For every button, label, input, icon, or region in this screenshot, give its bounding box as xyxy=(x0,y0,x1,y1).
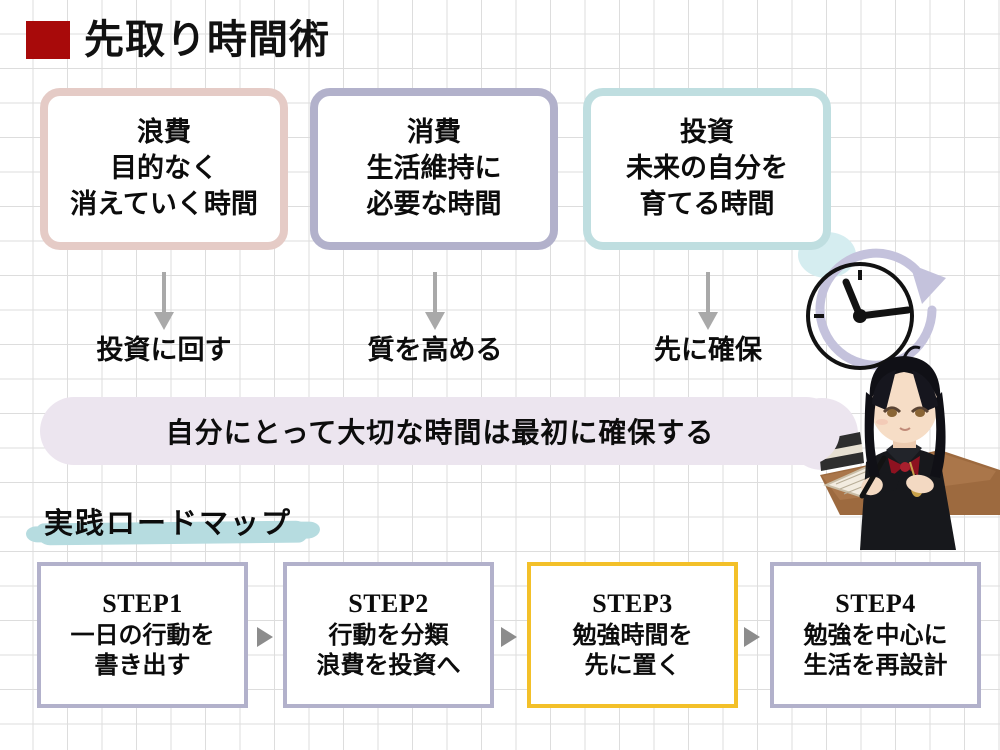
step-line-2: 一日の行動を xyxy=(71,621,215,652)
step-line-3: 書き出す xyxy=(95,651,191,682)
category-line-3: 必要な時間 xyxy=(367,187,502,223)
category-card-waste: 浪費 目的なく 消えていく時間 xyxy=(40,88,288,250)
step-line-2: 勉強を中心に xyxy=(804,621,948,652)
category-caption-investment: 先に確保 xyxy=(583,328,833,367)
page-title-row: 先取り時間術 xyxy=(26,20,330,60)
arrow-down-icon xyxy=(417,272,453,332)
roadmap-step-4: STEP4 勉強を中心に 生活を再設計 xyxy=(770,562,981,708)
category-line-3: 消えていく時間 xyxy=(70,187,258,223)
roadmap-step-1: STEP1 一日の行動を 書き出す xyxy=(37,562,248,708)
step-title: STEP4 xyxy=(835,588,916,621)
arrow-down-icon xyxy=(690,272,726,332)
roadmap-step-2: STEP2 行動を分類 浪費を投資へ xyxy=(283,562,494,708)
roadmap-heading-text: 実践ロードマップ xyxy=(44,500,292,542)
category-heading: 浪費 xyxy=(137,115,191,151)
category-line-3: 育てる時間 xyxy=(640,187,775,223)
category-line-2: 生活維持に xyxy=(367,151,502,187)
triangle-right-icon xyxy=(499,625,519,649)
category-card-consumption: 消費 生活維持に 必要な時間 xyxy=(310,88,558,250)
category-heading: 投資 xyxy=(680,115,734,151)
step-title: STEP1 xyxy=(102,588,183,621)
roadmap-step-3: STEP3 勉強時間を 先に置く xyxy=(527,562,738,708)
arrow-down-icon xyxy=(146,272,182,332)
step-line-3: 生活を再設計 xyxy=(804,651,948,682)
step-title: STEP3 xyxy=(592,588,673,621)
step-line-2: 行動を分類 xyxy=(329,621,449,652)
step-line-2: 勉強時間を xyxy=(573,621,693,652)
triangle-right-icon xyxy=(742,625,762,649)
category-caption-consumption: 質を高める xyxy=(310,328,560,367)
page-title: 先取り時間術 xyxy=(84,20,330,60)
key-message-text: 自分にとって大切な時間は最初に確保する xyxy=(166,411,715,451)
category-caption-waste: 投資に回す xyxy=(39,328,289,367)
title-marker-square xyxy=(26,21,70,59)
roadmap-heading: 実践ロードマップ xyxy=(44,500,292,542)
key-message-banner: 自分にとって大切な時間は最初に確保する xyxy=(40,397,840,465)
step-line-3: 浪費を投資へ xyxy=(317,651,461,682)
category-line-2: 目的なく xyxy=(110,151,218,187)
step-title: STEP2 xyxy=(348,588,429,621)
category-line-2: 未来の自分を xyxy=(626,151,788,187)
step-line-3: 先に置く xyxy=(585,651,681,682)
category-heading: 消費 xyxy=(407,115,461,151)
infographic-page: 先取り時間術 浪費 目的なく 消えていく時間 消費 生活維持に 必要な時間 投資… xyxy=(0,0,1000,750)
category-card-investment: 投資 未来の自分を 育てる時間 xyxy=(583,88,831,250)
triangle-right-icon xyxy=(255,625,275,649)
